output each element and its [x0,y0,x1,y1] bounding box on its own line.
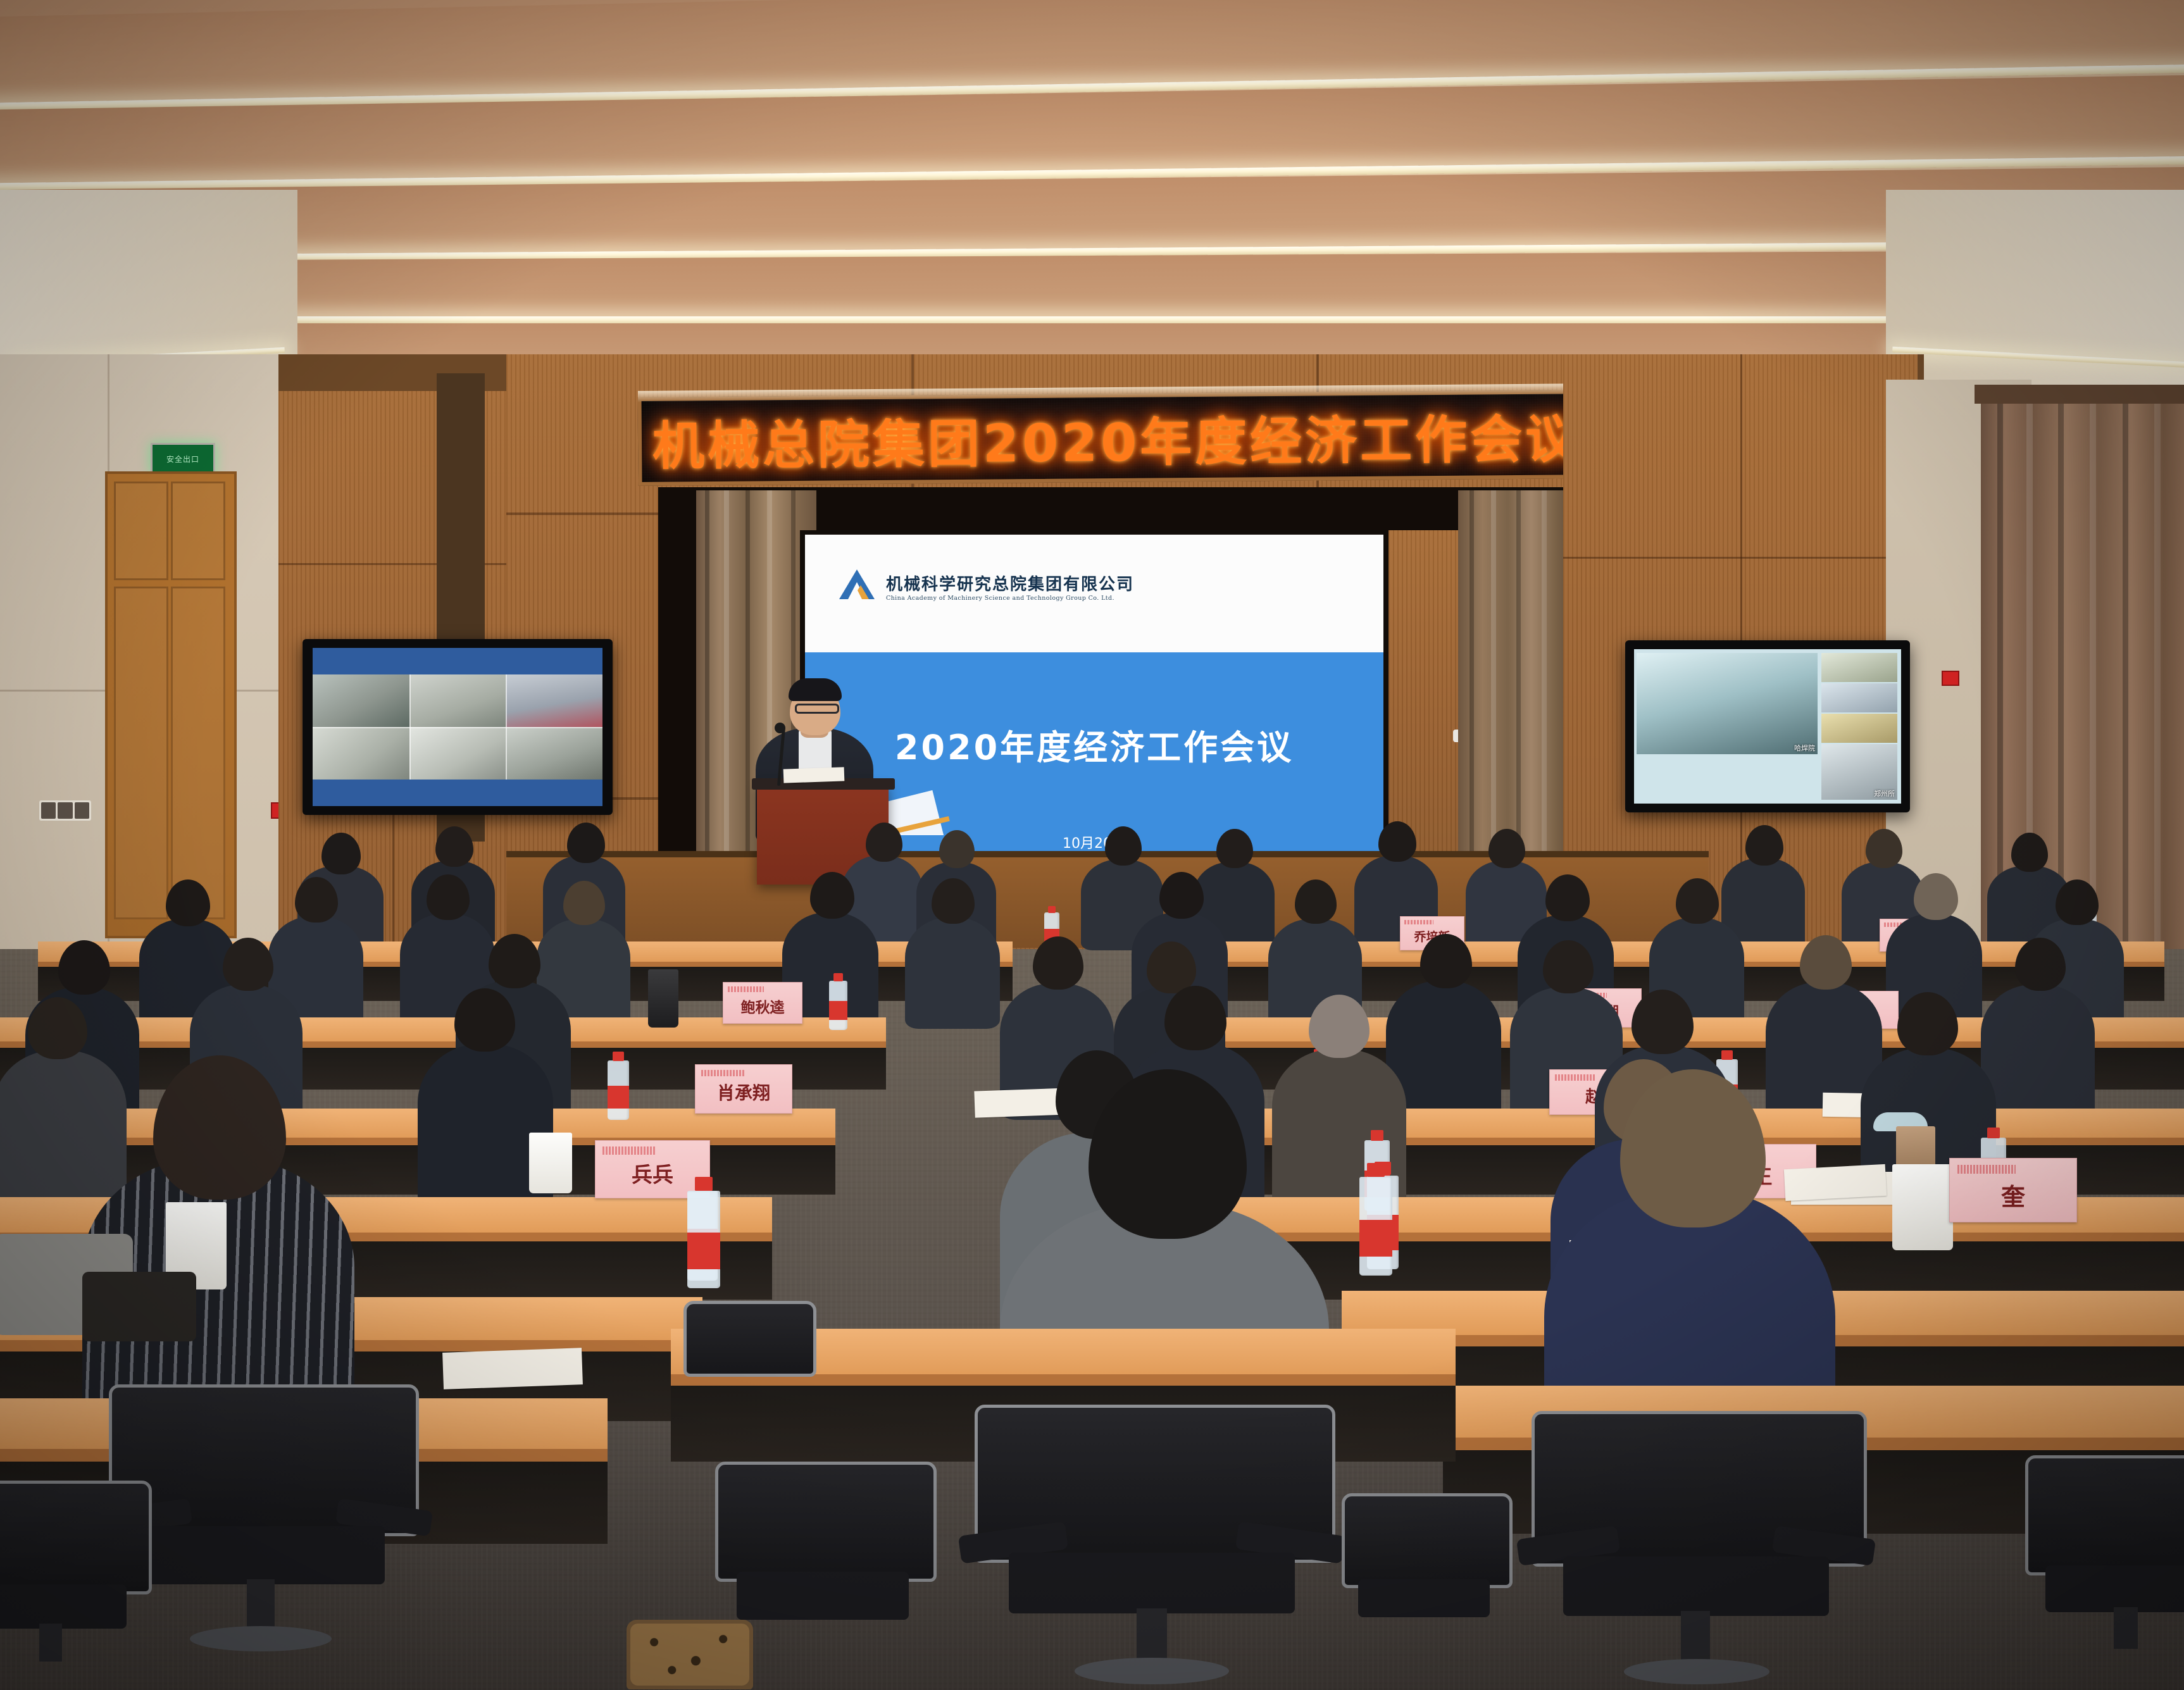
academy-triangle-icon [838,568,877,602]
right-video-conference-monitor: 哈焊院 郑州所 [1634,649,1901,804]
company-logo: 机械科学研究总院集团有限公司 China Academy of Machiner… [838,568,1134,602]
ceiling [0,0,2184,392]
light-switch-panel[interactable] [39,800,91,821]
water-bottle [829,973,847,1030]
fire-alarm-box-right [1942,671,1959,686]
emergency-exit-sign: 安全出口 [151,443,215,475]
name-placard: 肖承翔 [695,1064,792,1114]
ceiling-light-strip [0,316,2184,323]
chair[interactable] [109,1384,413,1650]
chair[interactable] [715,1462,930,1651]
microphone-head [775,723,785,733]
conference-room-photo: 安全出口 机械总院集团2020年度经济工作会议 [0,0,2184,1690]
water-bottle [1359,1163,1392,1276]
led-banner: 机械总院集团2020年度经济工作会议 [637,390,1595,486]
paper-cup [1892,1164,1953,1250]
name-placard: 鲍秋逵 [723,982,802,1024]
chair[interactable] [1532,1411,1861,1683]
slide-title: 2020年度经济工作会议 [805,719,1383,769]
paper-cup [529,1133,572,1193]
logo-text-en: China Academy of Machinery Science and T… [886,595,1134,602]
monitor-tile-label: 郑州所 [1874,788,1895,798]
projection-screen: 机械科学研究总院集团有限公司 China Academy of Machiner… [805,535,1383,861]
led-banner-text: 机械总院集团2020年度经济工作会议 [642,394,1592,482]
napkin [1784,1164,1887,1201]
chair[interactable] [683,1301,810,1402]
exit-sign-label: 安全出口 [166,454,199,464]
left-exit-door[interactable] [105,471,237,938]
chair[interactable] [975,1405,1329,1683]
logo-text-cn: 机械科学研究总院集团有限公司 [886,571,1134,595]
water-bottle [687,1177,720,1288]
name-placard: 奎 [1949,1158,2077,1222]
left-video-conference-monitor [313,648,602,806]
bag [82,1272,196,1341]
chair[interactable] [1342,1493,1506,1639]
water-bottle [608,1052,629,1120]
chair[interactable] [0,1481,146,1670]
thermos-cup [648,969,678,1028]
monitor-tile-label: 哈焊院 [1794,743,1815,753]
documents [442,1348,583,1389]
speech-papers [783,767,845,783]
chair[interactable] [2025,1455,2184,1664]
stage-curtain-right [1458,490,1569,867]
